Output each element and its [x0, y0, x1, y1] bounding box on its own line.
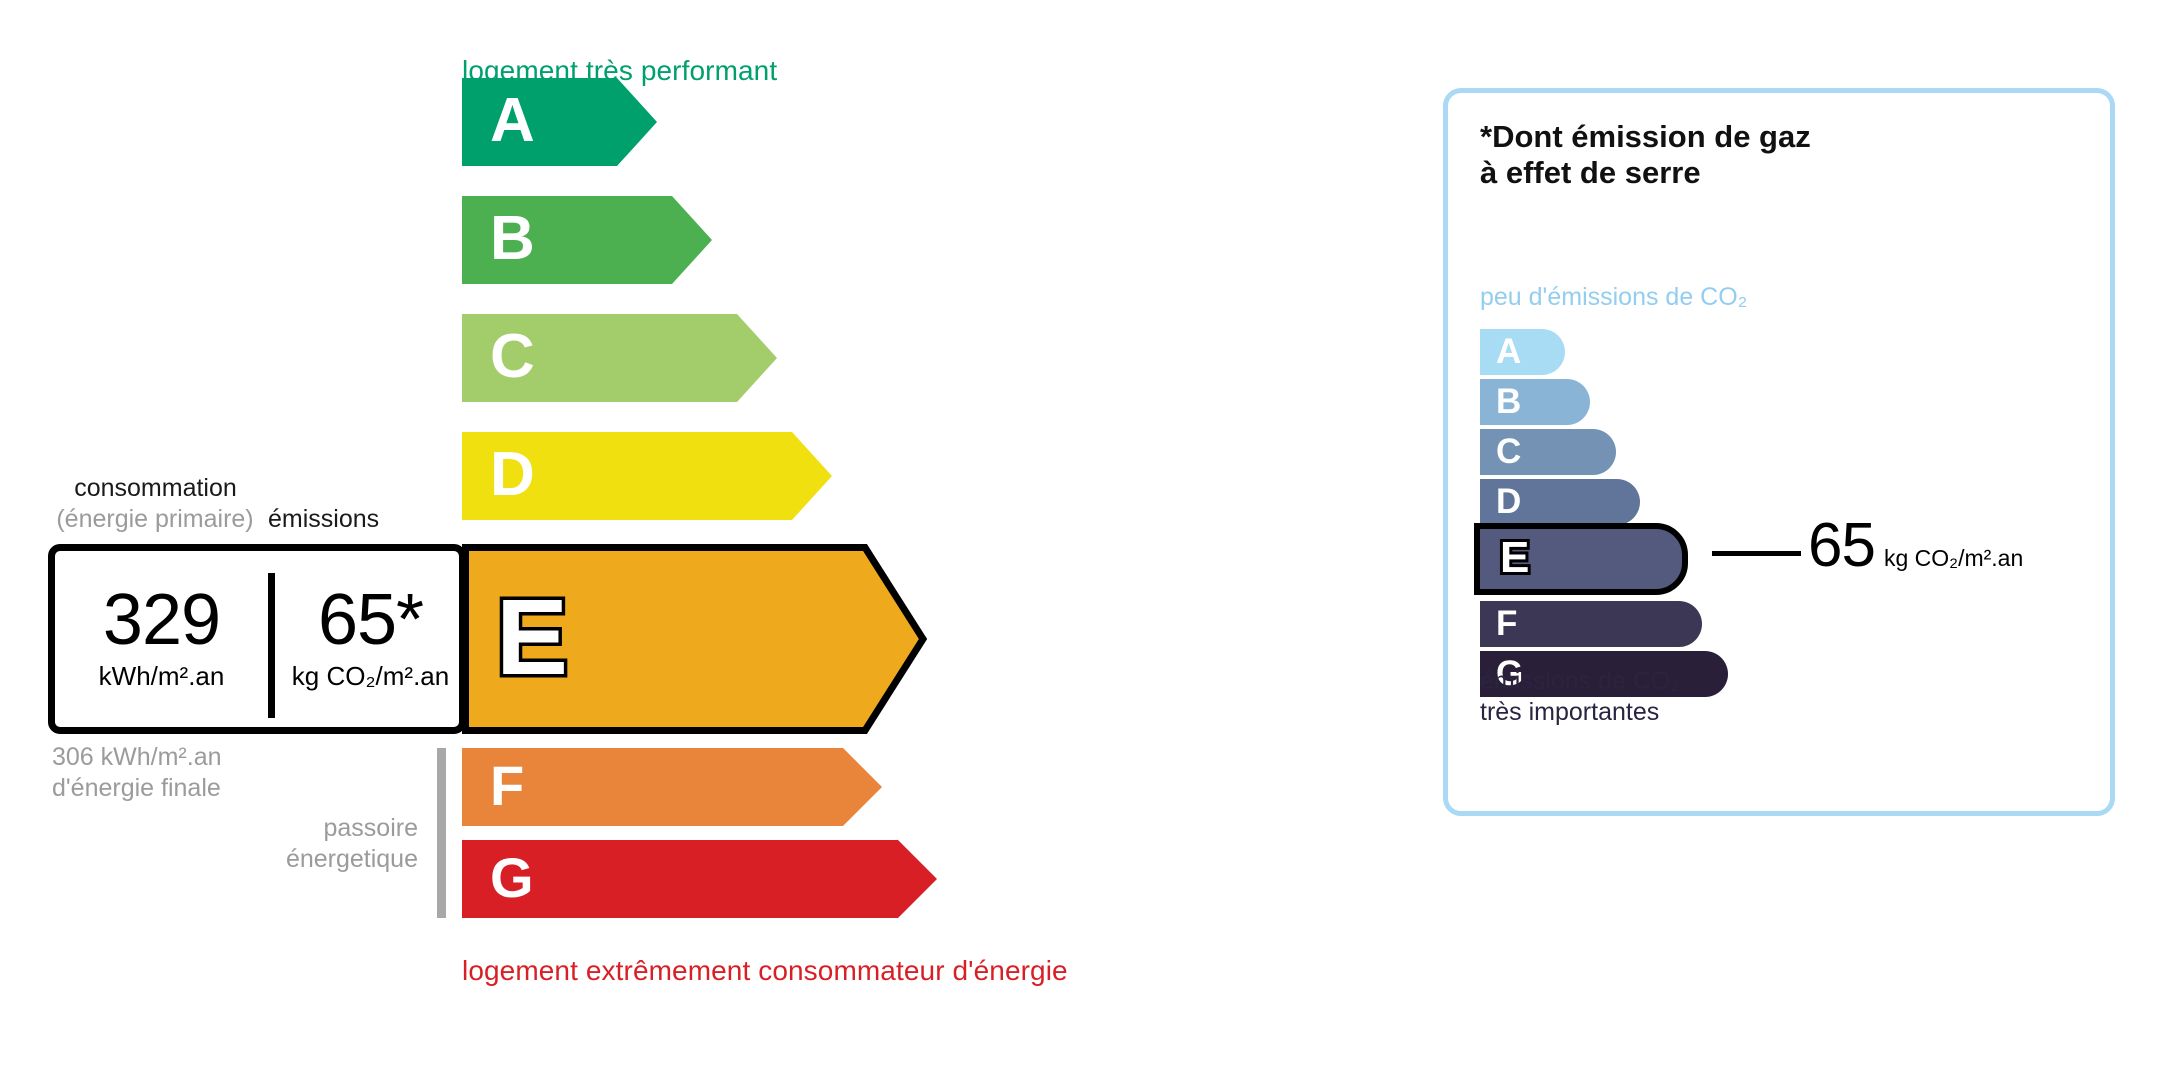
- energy-band-G: G: [462, 840, 937, 918]
- co2-bar-F: F: [1480, 601, 1702, 647]
- co2-callout-leader-line: [1712, 551, 1801, 556]
- passoire-line2: énergetique: [198, 844, 418, 875]
- passoire-line1: passoire: [198, 813, 418, 844]
- consumption-sublabel: (énergie primaire): [30, 505, 280, 534]
- co2-emissions-panel: *Dont émission de gaz à effet de serre p…: [1443, 88, 2115, 816]
- emissions-value-cell: 65* kg CO₂/m².an: [275, 551, 466, 727]
- co2-bar-F-letter: F: [1496, 606, 1517, 641]
- final-energy-note: 306 kWh/m².an d'énergie finale: [52, 742, 222, 805]
- passoire-energetique-note: passoire énergetique: [198, 813, 418, 876]
- co2-bottom-caption-line2: très importantes: [1480, 697, 1680, 728]
- band-G-letter: G: [490, 850, 534, 906]
- value-box: 329 kWh/m².an 65* kg CO₂/m².an: [48, 544, 466, 734]
- final-energy-line2: d'énergie finale: [52, 773, 222, 804]
- co2-panel-title: *Dont émission de gaz à effet de serre: [1480, 119, 1811, 191]
- co2-bar-A: A: [1480, 329, 1565, 375]
- energy-band-C: C: [462, 314, 777, 402]
- co2-bar-B: B: [1480, 379, 1590, 425]
- energy-bottom-caption: logement extrêmement consommateur d'éner…: [462, 955, 1068, 987]
- band-B-letter: B: [490, 208, 535, 270]
- co2-bar-A-letter: A: [1496, 334, 1521, 369]
- co2-bar-C-letter: C: [1496, 434, 1521, 469]
- co2-title-line1: *Dont émission de gaz: [1480, 119, 1811, 155]
- band-F-arrow-shape: [462, 748, 882, 826]
- band-A-letter: A: [490, 90, 535, 152]
- co2-bar-E-letter: E: [1500, 536, 1529, 580]
- emissions-value: 65*: [318, 586, 423, 654]
- band-E-letter: E: [496, 583, 568, 691]
- consumption-value-cell: 329 kWh/m².an: [55, 551, 268, 727]
- co2-bottom-caption-line1: émissions de CO₂: [1480, 666, 1680, 697]
- emissions-label: émissions: [268, 505, 379, 534]
- energy-band-E-selected: E: [462, 544, 927, 734]
- consumption-value: 329: [103, 586, 220, 654]
- co2-bar-C: C: [1480, 429, 1616, 475]
- consumption-unit: kWh/m².an: [99, 661, 225, 692]
- co2-bottom-caption: émissions de CO₂ très importantes: [1480, 666, 1680, 727]
- passoire-bracket-bar: [437, 748, 446, 918]
- energy-band-D: D: [462, 432, 832, 520]
- co2-callout-number: 65: [1808, 515, 1875, 577]
- band-D-letter: D: [490, 444, 535, 506]
- energy-performance-chart: logement très performant A B C D E: [0, 0, 1380, 1079]
- final-energy-line1: 306 kWh/m².an: [52, 742, 222, 773]
- consumption-label: consommation: [48, 474, 263, 503]
- co2-callout-value: 65 kg CO₂/m².an: [1808, 515, 2023, 577]
- energy-band-F: F: [462, 748, 882, 826]
- co2-top-caption: peu d'émissions de CO₂: [1480, 283, 1747, 312]
- co2-bar-E-selected: E: [1474, 523, 1688, 595]
- co2-callout-unit: kg CO₂/m².an: [1884, 545, 2023, 572]
- co2-bar-D-letter: D: [1496, 484, 1521, 519]
- value-box-divider: [268, 573, 275, 718]
- co2-bar-D: D: [1480, 479, 1640, 525]
- energy-band-A: A: [462, 78, 657, 166]
- co2-title-line2: à effet de serre: [1480, 155, 1811, 191]
- band-C-letter: C: [490, 326, 535, 388]
- emissions-unit: kg CO₂/m².an: [292, 661, 449, 692]
- co2-bar-B-letter: B: [1496, 384, 1521, 419]
- energy-band-B: B: [462, 196, 712, 284]
- band-F-letter: F: [490, 758, 524, 814]
